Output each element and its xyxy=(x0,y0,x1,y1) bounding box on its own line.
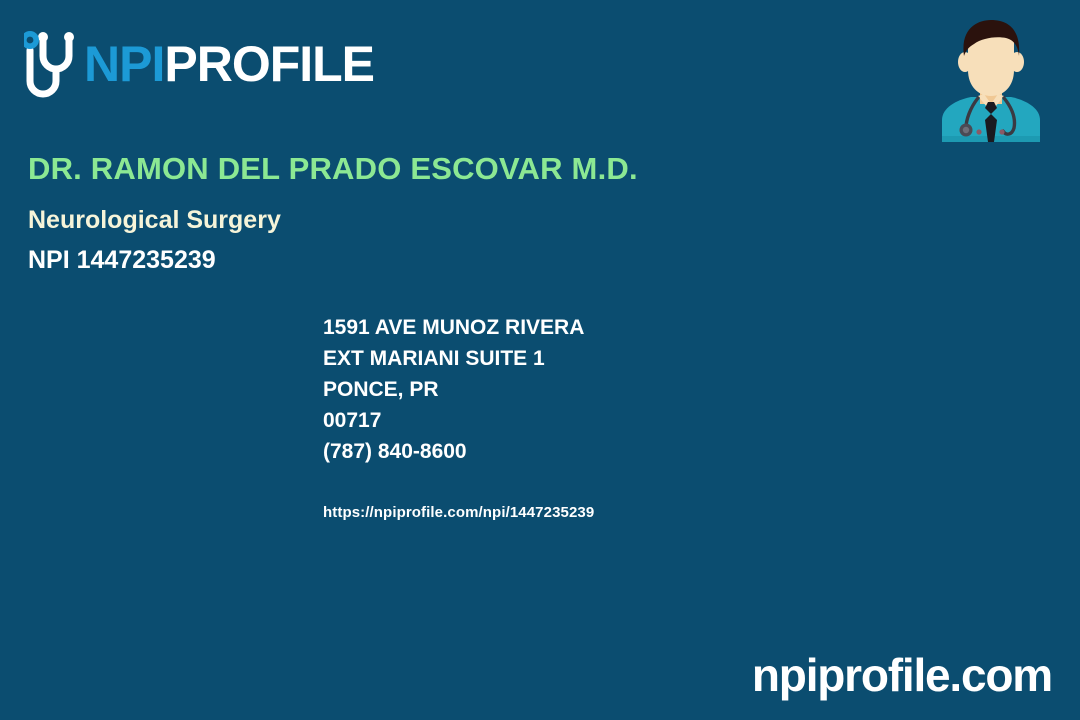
brand-name-npi: NPI xyxy=(84,36,164,92)
doctor-avatar-icon xyxy=(926,12,1056,142)
provider-name: DR. RAMON DEL PRADO ESCOVAR M.D. xyxy=(28,152,638,186)
profile-url-link[interactable]: https://npiprofile.com/npi/1447235239 xyxy=(323,504,594,521)
brand-logo: NPIPROFILE xyxy=(24,26,374,102)
stethoscope-icon xyxy=(24,26,82,102)
brand-wordmark: NPIPROFILE xyxy=(84,39,374,89)
address-line: EXT MARIANI SUITE 1 xyxy=(323,343,584,374)
provider-specialty: Neurological Surgery xyxy=(28,206,281,235)
address-line: PONCE, PR xyxy=(323,374,584,405)
phone-number: (787) 840-8600 xyxy=(323,436,584,467)
provider-npi-number: NPI 1447235239 xyxy=(28,246,216,275)
site-watermark: npiprofile.com xyxy=(752,652,1052,698)
npi-profile-card: { "brand": { "logo_icon": "stethoscope-i… xyxy=(0,0,1080,720)
address-line: 1591 AVE MUNOZ RIVERA xyxy=(323,312,584,343)
address-line: 00717 xyxy=(323,405,584,436)
practice-address: 1591 AVE MUNOZ RIVERA EXT MARIANI SUITE … xyxy=(323,312,584,467)
brand-name-profile: PROFILE xyxy=(164,36,374,92)
